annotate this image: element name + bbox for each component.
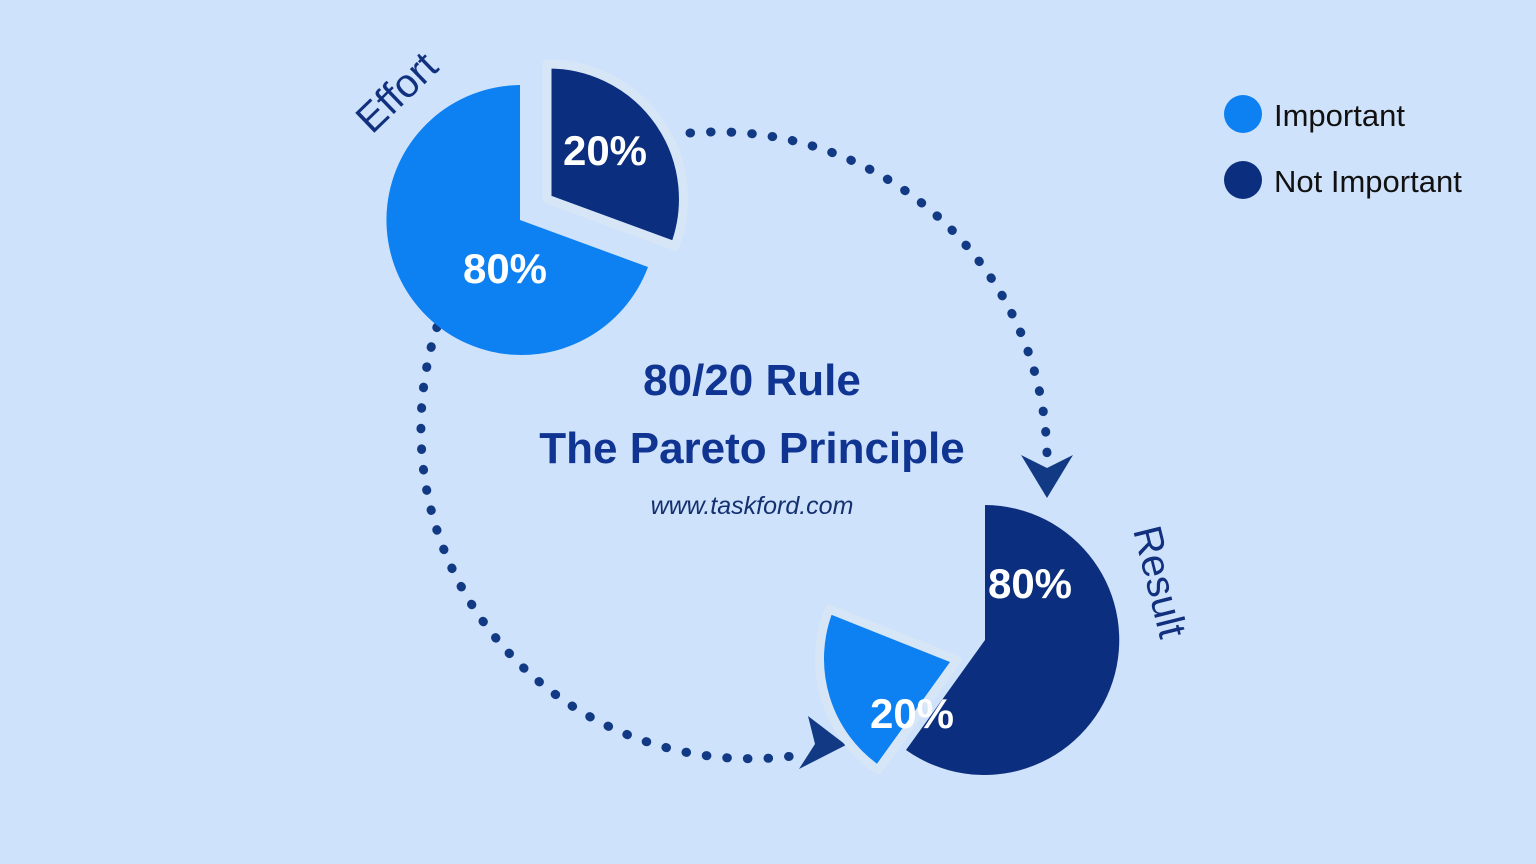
legend-label-not-important: Not Important (1274, 164, 1462, 199)
legend: Important Not Important (1224, 95, 1462, 199)
pie-chart-effort: 80% 20% Effort (348, 44, 684, 355)
legend-swatch-not-important-icon (1224, 161, 1262, 199)
pie-label-effort-not-important: 20% (563, 127, 647, 174)
website-url[interactable]: www.taskford.com (651, 492, 854, 520)
infographic-canvas: 80% 20% Effort 80% 20% Result 80/20 Rule… (0, 0, 1536, 864)
legend-label-important: Important (1274, 98, 1405, 133)
legend-item-important[interactable]: Important (1224, 95, 1405, 133)
legend-item-not-important[interactable]: Not Important (1224, 161, 1462, 199)
page-title-line-1: 80/20 Rule (643, 356, 861, 405)
pie-label-effort-important: 80% (463, 245, 547, 292)
arrowhead-down-icon (1021, 455, 1073, 498)
chart-caption-result: Result (1124, 522, 1194, 643)
pie-label-result-important: 20% (870, 690, 954, 737)
title-block: 80/20 Rule The Pareto Principle www.task… (539, 356, 964, 520)
page-title-line-2: The Pareto Principle (539, 424, 964, 473)
pareto-principle-figure: 80% 20% Effort 80% 20% Result 80/20 Rule… (0, 0, 1536, 864)
pie-label-result-not-important: 80% (988, 560, 1072, 607)
legend-swatch-important-icon (1224, 95, 1262, 133)
dotted-arc-top (690, 132, 1047, 470)
pie-chart-result: 80% 20% Result (819, 505, 1194, 775)
